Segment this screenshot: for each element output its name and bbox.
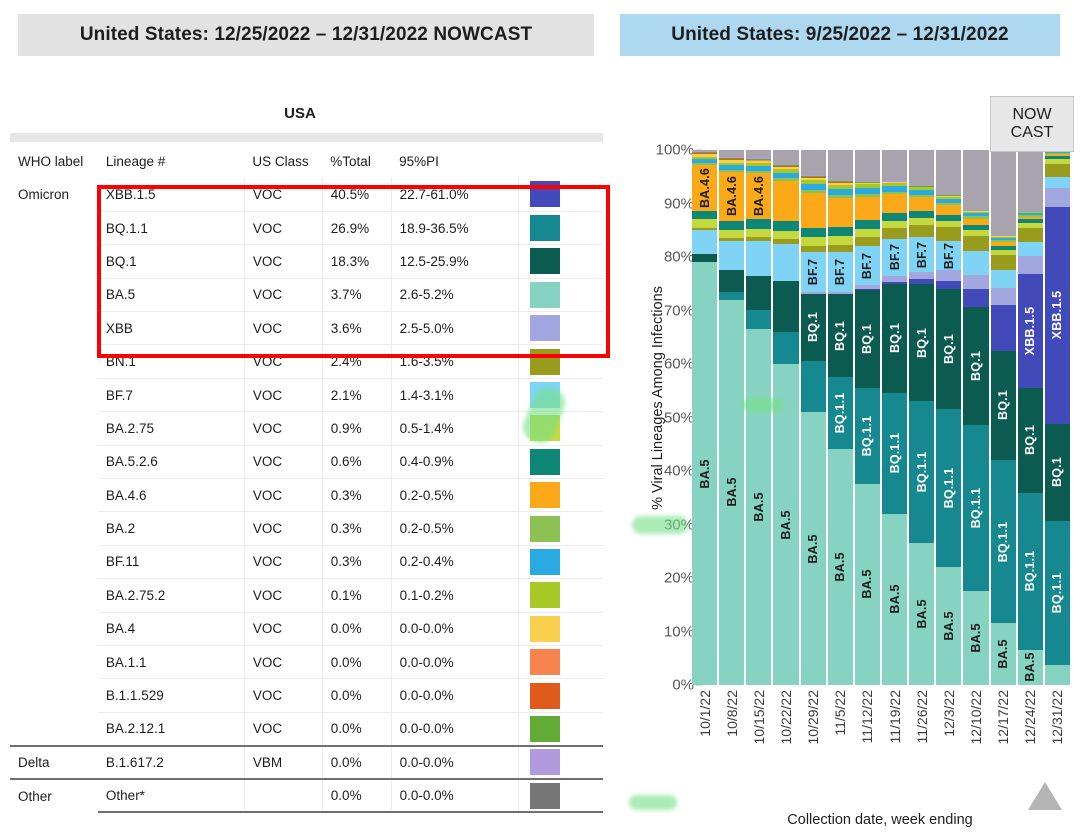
bar-segment [963, 150, 988, 211]
cell-pct-total: 0.6% [322, 445, 391, 478]
y-axis-tick-label: 80% [664, 249, 694, 266]
cell-95-pi: 0.2-0.5% [391, 512, 519, 545]
bar-segment [719, 150, 744, 157]
x-axis-tick-label: 10/15/22 [751, 690, 767, 745]
scroll-indicator-triangle-icon[interactable] [1028, 782, 1062, 810]
stacked-bar[interactable]: BQ.1BQ.1.1BA.5 [963, 150, 988, 685]
bar-segment: BA.5 [692, 262, 717, 685]
bar-segment-label: BQ.1.1 [969, 488, 983, 529]
bar-segment [909, 218, 934, 225]
bar-segment-label: BF.7 [915, 241, 929, 268]
cell-pct-total: 0.0% [322, 679, 391, 712]
color-swatch [530, 516, 560, 542]
cell-who-label [10, 645, 98, 678]
x-axis-tick: 12/24/22 [1018, 690, 1043, 774]
bar-segment-label: BQ.1.1 [888, 433, 902, 474]
x-axis-tick: 11/5/22 [828, 690, 853, 774]
stacked-bar[interactable]: BF.7BQ.1BQ.1.1BA.5 [882, 150, 907, 685]
y-axis-tick-label: 20% [664, 570, 694, 587]
bar-segment: BA.5 [1018, 650, 1043, 685]
stacked-bar[interactable]: BF.7BQ.1BQ.1.1BA.5 [936, 150, 961, 685]
bar-segment: BA.4.6 [692, 165, 717, 210]
bar-segment: BQ.1.1 [882, 393, 907, 513]
cell-lineage: BQ.1.1 [98, 211, 244, 244]
cell-pct-total: 0.3% [322, 479, 391, 512]
bar-segment-label: BQ.1 [806, 312, 820, 342]
stacked-bar[interactable]: BQ.1BQ.1.1BA.5 [991, 150, 1016, 685]
x-axis-tick: 10/22/22 [773, 690, 798, 774]
nowcast-badge-line1: NOW [1012, 106, 1051, 124]
bar-segment: BA.5 [909, 543, 934, 685]
stacked-bar[interactable]: XBB.1.5BQ.1BQ.1.1 [1045, 150, 1070, 685]
color-swatch [530, 248, 560, 274]
nowcast-panel: United States: 12/25/2022 – 12/31/2022 N… [0, 0, 610, 837]
table-row: BA.4VOC0.0%0.0-0.0% [10, 612, 603, 645]
bar-segment [991, 288, 1016, 305]
bar-segment: BA.4.6 [719, 172, 744, 220]
cell-95-pi: 2.5-5.0% [391, 312, 519, 345]
bar-segment-label: BF.7 [942, 242, 956, 269]
cell-lineage: BF.11 [98, 545, 244, 578]
cell-95-pi: 0.0-0.0% [391, 779, 519, 812]
cell-95-pi: 0.0-0.0% [391, 712, 519, 745]
y-axis-tick-label: 60% [664, 356, 694, 373]
bar-segment [746, 310, 771, 329]
cell-color-swatch [519, 211, 603, 244]
cell-who-label: Other [10, 779, 98, 812]
x-axis-tick: 12/10/22 [963, 690, 988, 774]
bar-segment-label: BQ.1 [833, 321, 847, 351]
cell-pct-total: 26.9% [322, 211, 391, 244]
table-row: BQ.1.1VOC26.9%18.9-36.5% [10, 211, 603, 244]
stacked-bar[interactable]: XBB.1.5BQ.1BQ.1.1BA.5 [1018, 150, 1043, 685]
column-header-lineage: Lineage # [98, 146, 244, 178]
stacked-bar[interactable]: BA.5 [773, 150, 798, 685]
y-axis-tick-label: 90% [664, 195, 694, 212]
bar-segment-label: BA.5 [969, 623, 983, 652]
cell-color-swatch [519, 479, 603, 512]
bar-segment: XBB.1.5 [1045, 207, 1070, 423]
table-row: BA.4.6VOC0.3%0.2-0.5% [10, 479, 603, 512]
x-axis-tick: 12/31/22 [1045, 690, 1070, 774]
cell-color-swatch [519, 378, 603, 411]
cell-lineage: BA.4.6 [98, 479, 244, 512]
bar-segment: BQ.1.1 [1045, 521, 1070, 665]
bar-segment: BQ.1 [801, 294, 826, 361]
cell-pct-total: 2.4% [322, 345, 391, 378]
cell-pct-total: 0.9% [322, 412, 391, 445]
x-axis-tick-label: 11/5/22 [832, 690, 848, 736]
cell-lineage: BA.2 [98, 512, 244, 545]
table-row: XBBVOC3.6%2.5-5.0% [10, 312, 603, 345]
bar-segment [936, 150, 961, 194]
x-axis-tick-label: 12/17/22 [995, 690, 1011, 745]
bar-segment: BA.5 [855, 484, 880, 685]
bar-segment [828, 198, 853, 227]
cell-color-swatch [519, 512, 603, 545]
bar-segment [963, 275, 988, 289]
table-row: BA.5.2.6VOC0.6%0.4-0.9% [10, 445, 603, 478]
bar-segment [909, 197, 934, 211]
bar-segment-label: BQ.1.1 [1023, 551, 1037, 592]
cell-color-swatch [519, 779, 603, 812]
stacked-bar[interactable]: BF.7BQ.1BQ.1.1BA.5 [828, 150, 853, 685]
bar-segment [936, 205, 961, 215]
cell-us-class: VOC [244, 412, 322, 445]
x-axis-tick: 10/15/22 [746, 690, 771, 774]
bar-segment [828, 227, 853, 236]
bar-segment-label: BA.5 [915, 599, 929, 628]
cell-95-pi: 0.4-0.9% [391, 445, 519, 478]
stacked-bar[interactable]: BA.4.6BA.5 [719, 150, 744, 685]
cell-lineage: BA.2.75 [98, 412, 244, 445]
cell-lineage: BA.2.12.1 [98, 712, 244, 745]
y-axis-tick-label: 10% [664, 623, 694, 640]
bar-segment-label: BF.7 [806, 259, 820, 286]
cell-who-label [10, 345, 98, 378]
x-axis-tick-label: 12/10/22 [968, 690, 984, 745]
cell-who-label [10, 445, 98, 478]
bar-segment [963, 289, 988, 308]
bar-segment [855, 229, 880, 237]
table-header-row: WHO label Lineage # US Class %Total 95%P… [10, 146, 603, 178]
bar-segment [909, 211, 934, 218]
bar-segment-label: BQ.1 [888, 323, 902, 353]
bar-segment: BF.7 [828, 252, 853, 292]
column-header-pct-total: %Total [322, 146, 391, 178]
y-axis-tick-label: 50% [664, 409, 694, 426]
bar-segment: BF.7 [801, 252, 826, 292]
bar-segment-label: BA.5 [888, 585, 902, 614]
bar-segment: BQ.1 [1045, 424, 1070, 522]
cell-color-swatch [519, 612, 603, 645]
bar-segment [828, 236, 853, 245]
table-row: BA.5VOC3.7%2.6-5.2% [10, 278, 603, 311]
bar-segment [936, 281, 961, 289]
x-axis-tick: 10/1/22 [692, 690, 717, 774]
cell-who-label [10, 612, 98, 645]
cell-pct-total: 0.3% [322, 545, 391, 578]
y-axis-tick-label: 30% [664, 516, 694, 533]
bar-segment [1045, 665, 1070, 685]
cell-us-class [244, 779, 322, 812]
stacked-bar[interactable]: BA.4.6BA.5 [692, 150, 717, 685]
cell-pct-total: 0.0% [322, 779, 391, 812]
table-row: BQ.1VOC18.3%12.5-25.9% [10, 245, 603, 278]
bar-segment [963, 251, 988, 275]
bar-segment [991, 305, 1016, 350]
x-axis-tick: 11/12/22 [855, 690, 880, 774]
x-axis-tick-label: 10/29/22 [805, 690, 821, 745]
bar-segment-label: BA.5 [779, 510, 793, 539]
bar-segment: BF.7 [882, 239, 907, 276]
bar-segment [855, 197, 880, 221]
bar-segment: BA.5 [828, 449, 853, 684]
bar-segment [719, 221, 744, 230]
x-axis-tick: 10/29/22 [801, 690, 826, 774]
cell-color-swatch [519, 545, 603, 578]
screenshot-root: United States: 12/25/2022 – 12/31/2022 N… [0, 0, 1080, 837]
color-swatch [530, 449, 560, 475]
cell-color-swatch [519, 312, 603, 345]
x-axis-tick: 11/26/22 [909, 690, 934, 774]
bar-segment [773, 332, 798, 364]
bar-segment [692, 230, 717, 254]
bar-segment-label: BA.5 [996, 639, 1010, 668]
table-row: BA.2.75VOC0.9%0.5-1.4% [10, 412, 603, 445]
bar-segment [719, 230, 744, 239]
color-swatch [530, 549, 560, 575]
bar-segment: BQ.1 [936, 289, 961, 409]
y-axis-tick-label: 0% [672, 677, 694, 694]
bar-segment-label: BA.5 [1023, 653, 1037, 682]
x-axis-tick-label: 12/31/22 [1049, 690, 1065, 745]
color-swatch [530, 716, 560, 742]
color-swatch [530, 616, 560, 642]
bar-segment-label: BQ.1.1 [915, 452, 929, 493]
cell-95-pi: 0.1-0.2% [391, 579, 519, 612]
cell-lineage: BA.2.75.2 [98, 579, 244, 612]
stacked-bar[interactable]: BF.7BQ.1BA.5 [801, 150, 826, 685]
cell-us-class: VOC [244, 579, 322, 612]
bar-segment: BQ.1 [991, 351, 1016, 461]
bar-segment [773, 181, 798, 221]
cell-pct-total: 3.6% [322, 312, 391, 345]
cell-lineage: XBB.1.5 [98, 178, 244, 211]
bar-segment: BA.5 [936, 567, 961, 685]
bar-segment [746, 229, 771, 238]
stacked-bar[interactable]: BF.7BQ.1BQ.1.1BA.5 [855, 150, 880, 685]
cell-95-pi: 0.0-0.0% [391, 612, 519, 645]
stacked-bar-plot: BA.4.6BA.5BA.4.6BA.5BA.4.6BA.5BA.5BF.7BQ… [692, 150, 1070, 685]
bar-segment [991, 150, 1016, 236]
x-axis-tick: 11/19/22 [882, 690, 907, 774]
color-swatch [530, 482, 560, 508]
cell-who-label [10, 312, 98, 345]
bar-segment [1045, 177, 1070, 188]
x-axis-tick-label: 12/3/22 [941, 690, 957, 737]
y-axis-tick-label: 100% [656, 142, 694, 159]
cell-who-label [10, 579, 98, 612]
column-header-who-label: WHO label [10, 146, 98, 178]
cell-who-label [10, 245, 98, 278]
bar-segment-label: BQ.1 [860, 324, 874, 354]
bar-segment-label: XBB.1.5 [1050, 291, 1064, 340]
table-row: BF.11VOC0.3%0.2-0.4% [10, 545, 603, 578]
bar-segment [882, 228, 907, 239]
table-row: B.1.1.529VOC0.0%0.0-0.0% [10, 679, 603, 712]
bar-segment [855, 237, 880, 246]
x-axis-tick-labels: 10/1/2210/8/2210/15/2210/22/2210/29/2211… [692, 690, 1070, 774]
cell-who-label [10, 378, 98, 411]
bar-segment-label: XBB.1.5 [1023, 307, 1037, 356]
nowcast-badge: NOW CAST [990, 96, 1074, 152]
bar-segment [909, 150, 934, 185]
bar-segment: BQ.1.1 [936, 409, 961, 567]
cell-us-class: VBM [244, 746, 322, 779]
cell-us-class: VOC [244, 679, 322, 712]
trend-panel-title: United States: 9/25/2022 – 12/31/2022 [620, 14, 1060, 56]
cell-95-pi: 1.6-3.5% [391, 345, 519, 378]
cell-95-pi: 22.7-61.0% [391, 178, 519, 211]
bar-segment-label: BQ.1.1 [860, 415, 874, 456]
cell-lineage: BA.4 [98, 612, 244, 645]
x-axis-tick-label: 12/24/22 [1022, 690, 1038, 745]
color-swatch [530, 582, 560, 608]
table-row: DeltaB.1.617.2VBM0.0%0.0-0.0% [10, 746, 603, 779]
bar-segment: BQ.1 [828, 294, 853, 377]
bar-segment-label: BA.5 [752, 492, 766, 521]
color-swatch [530, 649, 560, 675]
cell-who-label [10, 679, 98, 712]
cell-color-swatch [519, 645, 603, 678]
cell-us-class: VOC [244, 712, 322, 745]
bar-segment [1018, 150, 1043, 212]
x-axis-tick-label: 10/1/22 [697, 690, 713, 737]
stacked-bar[interactable]: BA.4.6BA.5 [746, 150, 771, 685]
bar-segment [828, 150, 853, 180]
cell-who-label: Delta [10, 746, 98, 779]
cell-color-swatch [519, 245, 603, 278]
cell-us-class: VOC [244, 445, 322, 478]
bar-segment: BQ.1.1 [855, 388, 880, 483]
bar-segment-label: BA.4.6 [725, 176, 739, 216]
bar-segment [719, 292, 744, 300]
cell-who-label [10, 545, 98, 578]
bar-segment-label: BQ.1.1 [1050, 573, 1064, 614]
table-row: BF.7VOC2.1%1.4-3.1% [10, 378, 603, 411]
cell-us-class: VOC [244, 312, 322, 345]
cell-95-pi: 18.9-36.5% [391, 211, 519, 244]
cell-lineage: BQ.1 [98, 245, 244, 278]
table-row: BN.1VOC2.4%1.6-3.5% [10, 345, 603, 378]
cell-pct-total: 18.3% [322, 245, 391, 278]
x-axis-title: Collection date, week ending [690, 812, 1070, 828]
cell-who-label [10, 512, 98, 545]
cell-who-label [10, 278, 98, 311]
bar-segment [1018, 256, 1043, 274]
bar-segment [1018, 242, 1043, 256]
cell-us-class: VOC [244, 211, 322, 244]
cell-pct-total: 0.0% [322, 712, 391, 745]
stacked-bar[interactable]: BF.7BQ.1BQ.1.1BA.5 [909, 150, 934, 685]
bar-segment-label: BQ.1.1 [942, 468, 956, 509]
bar-segment: BQ.1.1 [991, 460, 1016, 623]
cell-color-swatch [519, 712, 603, 745]
bar-segment [773, 281, 798, 332]
bar-segment [991, 270, 1016, 288]
bar-segment [855, 220, 880, 228]
bar-segment [828, 245, 853, 252]
cell-pct-total: 40.5% [322, 178, 391, 211]
bar-segment-label: BA.5 [860, 570, 874, 599]
bar-segment-label: BA.4.6 [698, 168, 712, 208]
cell-pct-total: 0.0% [322, 746, 391, 779]
cell-pct-total: 3.7% [322, 278, 391, 311]
color-swatch [530, 315, 560, 341]
bar-segment-label: BQ.1 [915, 328, 929, 358]
bar-segment-label: BQ.1 [1050, 457, 1064, 487]
bar-segment [801, 361, 826, 412]
bar-segment: XBB.1.5 [1018, 274, 1043, 387]
bar-segment [1045, 188, 1070, 207]
column-header-us-class: US Class [244, 146, 322, 178]
cell-lineage: Other* [98, 779, 244, 812]
bar-segment: BA.5 [963, 591, 988, 685]
cell-pct-total: 0.0% [322, 645, 391, 678]
color-swatch [530, 683, 560, 709]
cell-us-class: VOC [244, 479, 322, 512]
cell-pct-total: 0.3% [322, 512, 391, 545]
bar-segment: BQ.1.1 [828, 377, 853, 449]
bar-segment [801, 193, 826, 228]
bar-segment: BQ.1 [963, 307, 988, 425]
bar-segment [909, 225, 934, 237]
cell-who-label: Omicron [10, 178, 98, 211]
bar-segment-label: BQ.1 [942, 334, 956, 364]
bar-segment [963, 236, 988, 251]
color-swatch [530, 783, 560, 809]
cell-who-label [10, 712, 98, 745]
bar-segment: BA.5 [746, 329, 771, 685]
bar-segment [882, 221, 907, 228]
color-swatch [530, 382, 560, 408]
x-axis-tick-label: 11/12/22 [859, 690, 875, 743]
usa-subtitle: USA [0, 105, 600, 122]
bar-segment [719, 241, 744, 270]
cell-95-pi: 0.5-1.4% [391, 412, 519, 445]
bar-segment: BQ.1.1 [909, 401, 934, 543]
bar-segment-label: BF.7 [833, 259, 847, 286]
cell-95-pi: 1.4-3.1% [391, 378, 519, 411]
cell-lineage: BA.5 [98, 278, 244, 311]
bar-segment-label: BQ.1 [996, 390, 1010, 420]
bar-segment [882, 213, 907, 221]
y-axis-tick-label: 70% [664, 302, 694, 319]
bar-segment [801, 228, 826, 238]
cell-who-label [10, 479, 98, 512]
x-axis-tick-label: 11/19/22 [887, 690, 903, 743]
bar-segment [692, 211, 717, 220]
bar-segment [692, 219, 717, 228]
cell-us-class: VOC [244, 545, 322, 578]
bar-segment [719, 270, 744, 291]
cell-us-class: VOC [244, 512, 322, 545]
bar-segment [882, 194, 907, 213]
bar-segment [773, 221, 798, 231]
cell-pct-total: 2.1% [322, 378, 391, 411]
cell-95-pi: 0.0-0.0% [391, 645, 519, 678]
bar-segment [746, 219, 771, 229]
cell-95-pi: 12.5-25.9% [391, 245, 519, 278]
bar-segment-label: BA.5 [698, 459, 712, 488]
bar-segment-label: BA.4.6 [752, 176, 766, 216]
x-axis-tick: 12/17/22 [991, 690, 1016, 774]
table-row: BA.2.75.2VOC0.1%0.1-0.2% [10, 579, 603, 612]
bar-segment [746, 241, 771, 276]
x-axis-tick-label: 11/26/22 [914, 690, 930, 743]
table-row: BA.1.1VOC0.0%0.0-0.0% [10, 645, 603, 678]
table-row: OmicronXBB.1.5VOC40.5%22.7-61.0% [10, 178, 603, 211]
bar-segment-label: BA.5 [806, 534, 820, 563]
cell-95-pi: 0.0-0.0% [391, 679, 519, 712]
table-row: OtherOther*0.0%0.0-0.0% [10, 779, 603, 812]
bar-segment [773, 244, 798, 281]
bar-segment: BA.4.6 [746, 173, 771, 218]
table-row: BA.2VOC0.3%0.2-0.5% [10, 512, 603, 545]
bar-segment [855, 150, 880, 181]
bar-segment: BQ.1 [882, 284, 907, 394]
